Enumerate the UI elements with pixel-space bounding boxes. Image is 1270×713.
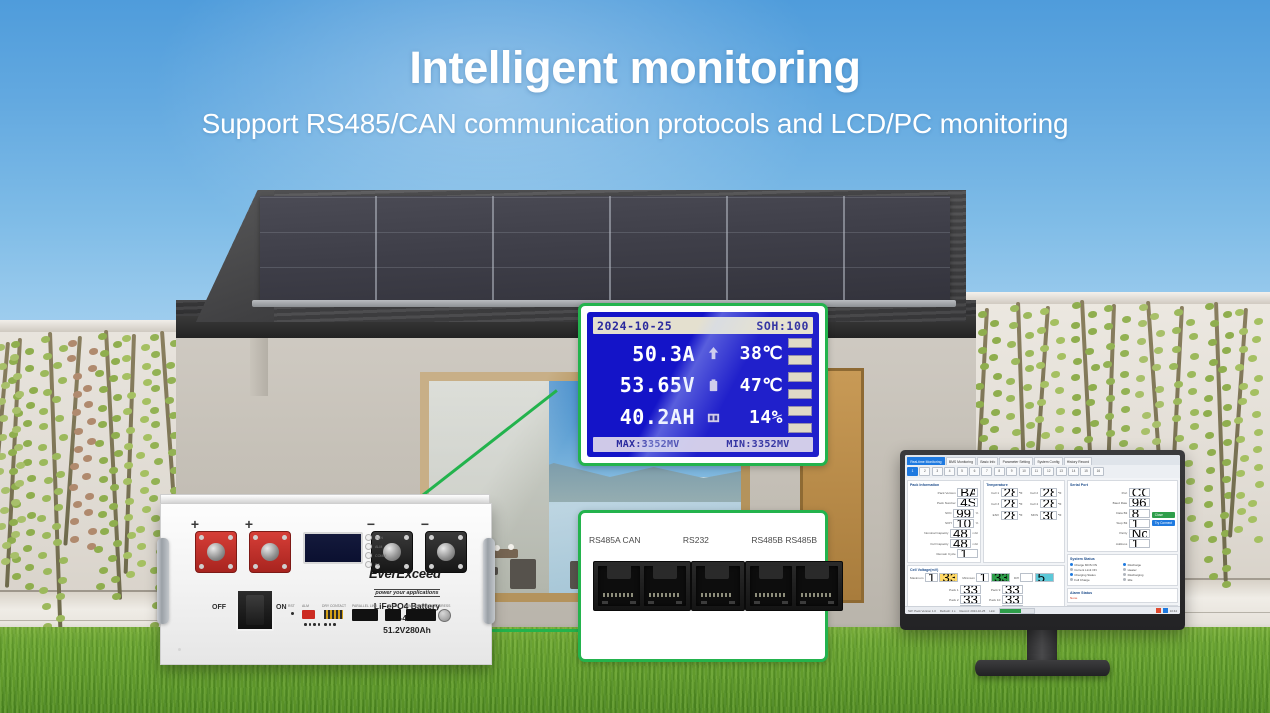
software-tab-4[interactable]: System Config — [1034, 457, 1062, 465]
vine-leaf — [1071, 322, 1080, 329]
pack-selector-row[interactable]: 12345678910111213141516 — [905, 465, 1180, 478]
reset-button[interactable] — [291, 612, 294, 615]
vine-leaf — [67, 355, 76, 362]
vine-leaf — [1025, 402, 1034, 409]
vine-leaf — [1204, 501, 1213, 508]
vine-leaf — [1055, 426, 1064, 433]
lcd-level-bar — [788, 355, 812, 365]
field-label: Cell 1 — [991, 491, 999, 495]
cell-label: Pack 9 — [991, 588, 1000, 592]
software-tab-0[interactable]: Real-time Monitoring — [907, 457, 945, 465]
form-field: Port — [1070, 488, 1150, 497]
field-label: Port — [1122, 491, 1128, 495]
vine-leaf — [52, 453, 61, 460]
field-input[interactable] — [1129, 509, 1150, 518]
lcd-temp-1: 38℃ — [731, 343, 783, 364]
vine-leaf — [15, 391, 24, 398]
vine-leaf — [42, 495, 51, 502]
vine-leaf — [54, 504, 63, 511]
cell-value[interactable] — [960, 595, 981, 604]
summary-index[interactable] — [1020, 573, 1033, 582]
vine-leaf — [12, 426, 21, 433]
form-field: Remain Cycle — [910, 549, 978, 558]
terminal-bolt — [437, 543, 455, 561]
battery-lcd-screen — [303, 532, 363, 564]
form-field: Full CapacitymAh — [910, 539, 978, 548]
vine-leaf — [1223, 439, 1232, 446]
vine-leaf — [53, 539, 62, 546]
software-tab-2[interactable]: Basic Info — [977, 457, 998, 465]
field-label: Baud Rate — [1113, 501, 1128, 505]
lcd-level-bar — [788, 406, 812, 416]
vine-leaf — [111, 432, 120, 439]
vine-leaf — [1139, 356, 1148, 363]
field-unit: ℃ — [1019, 513, 1022, 517]
battery-vent — [178, 648, 181, 651]
led-label: ALM — [375, 545, 382, 549]
vine-leaf — [1010, 305, 1019, 312]
summary-label: Maximum — [910, 576, 923, 580]
status-progress-bar — [999, 608, 1035, 614]
serial-close-button[interactable]: Close — [1152, 512, 1175, 518]
form-field: Stop Bit — [1070, 519, 1150, 528]
vine-leaf — [1057, 353, 1066, 360]
panel-title: Alarm Status — [1070, 591, 1175, 595]
terminal-sign: + — [191, 516, 199, 532]
status-record: Record: 2024-10-25 — [960, 609, 986, 613]
vine-leaf — [993, 390, 1002, 397]
system-status-item: Heater — [1123, 568, 1173, 572]
vine-leaf — [68, 340, 77, 347]
vine-leaf — [1026, 422, 1035, 429]
vine-leaf — [1209, 359, 1218, 366]
vine-leaf — [74, 428, 83, 435]
vine-leaf — [980, 418, 989, 425]
lcd-date: 2024-10-25 — [597, 319, 672, 333]
vine-leaf — [979, 435, 988, 442]
summary-index[interactable] — [976, 573, 989, 582]
vine-leaf — [1173, 398, 1182, 405]
pack-button-3[interactable]: 3 — [932, 467, 943, 476]
bms-software: Real-time MonitoringBMS MonitoringBasic … — [905, 455, 1180, 614]
vine-leaf — [1073, 358, 1082, 365]
field-label: Data Bit — [1116, 511, 1127, 515]
summary-value[interactable] — [991, 573, 1010, 582]
record-indicator-icon[interactable] — [1156, 608, 1161, 613]
lcd-top-bar: 2024-10-25 SOH:100 — [593, 317, 813, 334]
led-dot — [365, 543, 372, 550]
vine-leaf — [0, 415, 8, 422]
lcd-bottom-bar: MAX:3352MV MIN:3352MV — [593, 437, 813, 452]
pack-button-7[interactable]: 7 — [981, 467, 992, 476]
field-label: Cell 4 — [1030, 502, 1038, 506]
lcd-level-bar — [788, 338, 812, 348]
vine-leaf — [99, 386, 108, 393]
pack-button-5[interactable]: 5 — [957, 467, 968, 476]
vine-leaf — [1120, 371, 1129, 378]
sp-label-rs232: RS232 — [387, 604, 397, 608]
vine-leaf — [113, 540, 122, 547]
vine-leaf — [152, 369, 161, 376]
lcd-soc-value: 14% — [731, 407, 783, 428]
software-tab-5[interactable]: History Record — [1064, 457, 1093, 465]
vine-leaf — [122, 373, 131, 380]
rs232-port[interactable] — [691, 561, 745, 611]
field-label: SOC — [945, 511, 952, 515]
software-tab-1[interactable]: BMS Monitoring — [946, 457, 977, 465]
panel-serial-port: Serial Port PortBaud RateData BitStop Bi… — [1067, 480, 1178, 553]
pack-button-10[interactable]: 10 — [1019, 467, 1030, 476]
cell-voltage-row: Pack 2 — [949, 595, 981, 604]
summary-label: Minimum — [962, 576, 975, 580]
vine-leaf — [1235, 309, 1244, 316]
dry-contact-connector[interactable] — [324, 610, 343, 619]
field-unit: ℃ — [1058, 491, 1061, 495]
cell-label: Pack 1 — [949, 588, 958, 592]
cell-voltage-row: Pack 10 — [989, 595, 1023, 604]
status-link-label: Link: — [989, 609, 995, 613]
field-label: Remain Cycle — [936, 552, 955, 556]
terminal-sign: + — [245, 516, 253, 532]
vine-leaf — [29, 387, 38, 394]
brand-tagline: power your applications — [374, 589, 439, 597]
cell-voltage-row: Pack 9 — [989, 585, 1023, 594]
field-input[interactable] — [957, 498, 978, 507]
vine-leaf — [1222, 548, 1231, 555]
vine-leaf — [1188, 388, 1197, 395]
field-unit: % — [976, 521, 979, 525]
vine-leaf — [27, 475, 36, 482]
rj45-jack[interactable] — [598, 566, 640, 606]
led-label: COMM — [375, 554, 386, 558]
vine-leaf — [0, 507, 9, 514]
status-time: 10:44 — [1170, 609, 1177, 613]
vine-leaf — [42, 603, 51, 610]
vine-leaf — [1209, 573, 1218, 580]
form-field: Pack Version — [910, 488, 978, 497]
cell-value[interactable] — [1002, 595, 1023, 604]
communication-port[interactable] — [406, 609, 436, 621]
panel-title: Pack Information — [910, 483, 978, 487]
field-input[interactable] — [1129, 519, 1150, 528]
pack-button-8[interactable]: 8 — [994, 467, 1005, 476]
vine-leaf — [1120, 350, 1129, 357]
software-tab-3[interactable]: Parameter Setting — [999, 457, 1033, 465]
pack-button-12[interactable]: 12 — [1043, 467, 1054, 476]
panel-temperature: Temperature Cell 1℃Cell 2℃Cell 3℃Cell 4℃… — [983, 480, 1065, 563]
parallel-link-port[interactable] — [352, 609, 378, 621]
vine-leaf — [978, 329, 987, 336]
cell-label: Pack 2 — [949, 598, 958, 602]
vine-leaf — [1, 487, 10, 494]
pack-button-4[interactable]: 4 — [944, 467, 955, 476]
led-indicator: COMM — [365, 552, 386, 559]
battery-handle-left[interactable] — [157, 538, 169, 624]
vine-leaf — [73, 373, 82, 380]
field-input[interactable] — [1040, 488, 1057, 497]
sp-label-communication: COMMUNICATION — [404, 604, 433, 608]
form-field: Data Bit — [1070, 509, 1150, 518]
system-status-item: Charge MOS ON — [1070, 563, 1120, 567]
lcd-voltage-value: 53.65V — [595, 373, 695, 397]
vine-leaf — [140, 470, 149, 477]
vine-leaf — [1172, 415, 1181, 422]
vine-leaf — [1026, 441, 1035, 448]
summary-value[interactable] — [939, 573, 958, 582]
cell-voltage-summary: Maximum — [910, 573, 958, 582]
field-input[interactable] — [1129, 498, 1150, 507]
vine-leaf — [1155, 386, 1164, 393]
cell-value[interactable] — [1002, 585, 1023, 594]
field-input[interactable] — [1001, 488, 1018, 497]
vine-leaf — [112, 593, 121, 600]
vine-leaf — [1106, 378, 1115, 385]
vine-leaf — [151, 515, 160, 522]
pack-button-1[interactable]: 1 — [907, 467, 918, 476]
vine-leaf — [1088, 311, 1097, 318]
form-field: Nominal CapacitymAh — [910, 529, 978, 538]
field-unit: ℃ — [1019, 502, 1022, 506]
vine-leaf — [1011, 358, 1020, 365]
power-breaker-switch[interactable] — [236, 589, 274, 631]
vine-leaf — [140, 487, 149, 494]
status-dot-icon — [1070, 578, 1073, 581]
field-label: Stop Bit — [1116, 521, 1127, 525]
alarm-port[interactable] — [302, 610, 315, 619]
form-field: SOH% — [910, 519, 978, 528]
panel-alarm-status: Alarm Status None — [1067, 588, 1178, 604]
vine-leaf — [14, 444, 23, 451]
field-label: Parity — [1119, 531, 1127, 535]
field-input[interactable] — [1129, 488, 1150, 497]
vine-leaf — [1204, 556, 1213, 563]
software-body: Pack Information Pack VersionPack Number… — [905, 478, 1180, 614]
led-dot — [365, 552, 372, 559]
system-status-item: Idle — [1123, 578, 1173, 582]
status-label: Idle — [1128, 578, 1133, 582]
lcd-level-bar — [788, 372, 812, 382]
vine-leaf — [88, 528, 97, 535]
sp-label-address: ADDRESS — [434, 604, 450, 608]
panel-title: Cell Voltage(mV) — [910, 568, 1062, 572]
panel-title: Serial Port — [1070, 483, 1175, 487]
led-indicator: RUN — [365, 534, 386, 541]
status-label: Charging Status — [1074, 573, 1096, 577]
vine-leaf — [1234, 417, 1243, 424]
lcd-level-bar — [788, 423, 812, 433]
vine-leaf — [52, 396, 61, 403]
form-field: Baud Rate — [1070, 498, 1150, 507]
field-label: ENV — [993, 513, 999, 517]
vine-leaf — [59, 345, 68, 352]
vine-leaf — [89, 348, 98, 355]
summary-index[interactable] — [925, 573, 938, 582]
status-dot-icon — [1123, 568, 1126, 571]
field-input[interactable] — [1129, 529, 1150, 538]
system-status-item: Discharge — [1123, 563, 1173, 567]
cell-value[interactable] — [960, 585, 981, 594]
vine-leaf — [43, 353, 52, 360]
port-label-rs485b: RS485B RS485B — [751, 535, 817, 545]
vine-leaf — [151, 478, 160, 485]
lcd-min-cell: MIN:3352MV — [726, 439, 789, 450]
vine-leaf — [83, 455, 92, 462]
field-input[interactable] — [1040, 499, 1057, 508]
rs485a-can-ports[interactable] — [593, 561, 691, 611]
led-label: RUN — [375, 536, 383, 540]
vine-leaf — [55, 415, 64, 422]
vine-leaf — [1236, 470, 1245, 477]
vine-leaf — [1106, 430, 1115, 437]
pack-button-9[interactable]: 9 — [1006, 467, 1017, 476]
address-dial[interactable] — [438, 609, 451, 622]
vine-leaf — [1254, 429, 1263, 436]
vine-leaf — [1072, 409, 1081, 416]
vine-leaf — [1, 382, 10, 389]
rj45-jack[interactable] — [750, 566, 792, 606]
vine-leaf — [125, 498, 134, 505]
field-input[interactable] — [1129, 539, 1150, 548]
rs485b-ports[interactable] — [745, 561, 843, 611]
battery-icon — [706, 378, 721, 393]
field-unit: ℃ — [1058, 502, 1061, 506]
vine-leaf — [1174, 309, 1183, 316]
vine-leaf — [1104, 323, 1113, 330]
vine-leaf — [1255, 481, 1264, 488]
vine-leaf — [11, 499, 20, 506]
vine-leaf — [95, 440, 104, 447]
system-status-item: Full Charge — [1070, 578, 1120, 582]
field-input[interactable] — [953, 519, 974, 528]
vine-leaf — [1222, 476, 1231, 483]
vine-leaf — [38, 552, 47, 559]
field-input[interactable] — [1001, 499, 1018, 508]
lcd-row-voltage: 53.65V 47℃ — [593, 373, 785, 397]
vine-leaf — [1072, 394, 1081, 401]
vine-leaf — [26, 529, 35, 536]
vine-leaf — [1088, 328, 1097, 335]
serial-try-connect-button[interactable]: Try Connect — [1152, 520, 1175, 526]
vine-leaf — [1237, 508, 1246, 515]
vine-leaf — [154, 458, 163, 465]
vine-leaf — [1222, 420, 1231, 427]
status-label: Charge MOS ON — [1074, 563, 1097, 567]
vine-leaf — [167, 377, 176, 384]
port-label-rs485a-can: RS485A CAN — [589, 535, 641, 545]
temperature-field: MOS℃ — [1025, 511, 1061, 520]
temperature-field: Cell 3℃ — [986, 499, 1022, 508]
ports-callout-panel: RS485A CAN RS232 RS485B RS485B — [578, 510, 828, 662]
status-label: Discharging — [1128, 573, 1144, 577]
rj45-jack[interactable] — [796, 566, 838, 606]
lcd-display: 2024-10-25 SOH:100 50.3A 38℃ 53.65V 47℃ — [587, 312, 819, 457]
port-label-rs232: RS232 — [683, 535, 709, 545]
battery-handle-right[interactable] — [483, 538, 495, 624]
status-label: Full Charge — [1074, 578, 1090, 582]
field-input[interactable] — [957, 488, 978, 497]
vine-leaf — [136, 452, 145, 459]
vine-leaf — [1088, 384, 1097, 391]
promotional-banner: Intelligent monitoring Support RS485/CAN… — [0, 0, 1270, 713]
vine-leaf — [1056, 337, 1065, 344]
summary-label: Diff — [1014, 576, 1019, 580]
status-label: Discharge — [1128, 563, 1142, 567]
vine-leaf — [978, 311, 987, 318]
ports-label-row: RS485A CAN RS232 RS485B RS485B — [589, 535, 817, 545]
vine-leaf — [1040, 308, 1049, 315]
status-label: Heater — [1128, 568, 1137, 572]
terminal-bolt — [207, 543, 225, 561]
lcd-current-value: 50.3A — [595, 342, 695, 366]
vine-leaf — [1236, 436, 1245, 443]
temperature-field: Cell 1℃ — [986, 488, 1022, 497]
field-input[interactable] — [957, 549, 978, 558]
pack-button-13[interactable]: 13 — [1056, 467, 1067, 476]
rs232-port-small[interactable] — [385, 609, 401, 621]
lcd-level-bars — [788, 338, 812, 433]
vine-leaf — [1025, 350, 1034, 357]
pack-button-2[interactable]: 2 — [919, 467, 930, 476]
vine-leaf — [1138, 320, 1147, 327]
vine-leaf — [137, 560, 146, 567]
pack-button-6[interactable]: 6 — [969, 467, 980, 476]
field-input[interactable] — [950, 539, 971, 548]
software-tab-bar[interactable]: Real-time MonitoringBMS MonitoringBasic … — [905, 455, 1180, 465]
pack-button-15[interactable]: 15 — [1080, 467, 1091, 476]
field-input[interactable] — [1040, 511, 1057, 520]
status-sw-version: SW: Pack Version 1.0 — [908, 609, 936, 613]
vine-leaf — [1204, 521, 1213, 528]
page-title: Intelligent monitoring — [0, 42, 1270, 94]
field-input[interactable] — [953, 509, 974, 518]
vine-leaf — [1071, 374, 1080, 381]
form-field: Parity — [1070, 529, 1150, 538]
temperature-field: Cell 2℃ — [1025, 488, 1061, 497]
vine-leaf — [95, 370, 104, 377]
pack-button-16[interactable]: 16 — [1093, 467, 1104, 476]
terminal-sign: − — [367, 516, 375, 532]
vine-leaf — [84, 509, 93, 516]
vine-leaf — [1186, 478, 1195, 485]
field-input[interactable] — [950, 529, 971, 538]
battery-small-ports: RST ALM DRY CONTACT PARALLEL LINK RS232 … — [286, 604, 446, 630]
software-status-bar: SW: Pack Version 1.0 Refresh: 1 s Record… — [905, 606, 1180, 614]
vine-leaf — [98, 333, 107, 340]
field-label: Cell 2 — [1030, 491, 1038, 495]
brand-name: EverExceed® — [352, 566, 462, 581]
pack-button-11[interactable]: 11 — [1031, 467, 1042, 476]
vine-leaf — [25, 564, 34, 571]
pack-button-14[interactable]: 14 — [1068, 467, 1079, 476]
vine-leaf — [978, 347, 987, 354]
vine-leaf — [1009, 322, 1018, 329]
lcd-row-current: 50.3A 38℃ — [593, 342, 785, 366]
field-unit: % — [976, 511, 979, 515]
form-field: SOC% — [910, 509, 978, 518]
rj45-jack[interactable] — [696, 566, 740, 606]
vine-leaf — [13, 373, 22, 380]
system-status-item: Current Limit ON — [1070, 568, 1120, 572]
summary-value[interactable] — [1035, 573, 1054, 582]
info-indicator-icon[interactable] — [1163, 608, 1168, 613]
pc-monitor: Real-time MonitoringBMS MonitoringBasic … — [900, 450, 1185, 630]
rj45-jack[interactable] — [644, 566, 686, 606]
temperature-field: ENV℃ — [986, 511, 1022, 520]
vine-leaf — [1006, 378, 1015, 385]
vine-leaf — [166, 362, 175, 369]
panel-pack-information: Pack Information Pack VersionPack Number… — [907, 480, 981, 563]
field-input[interactable] — [1001, 511, 1018, 520]
